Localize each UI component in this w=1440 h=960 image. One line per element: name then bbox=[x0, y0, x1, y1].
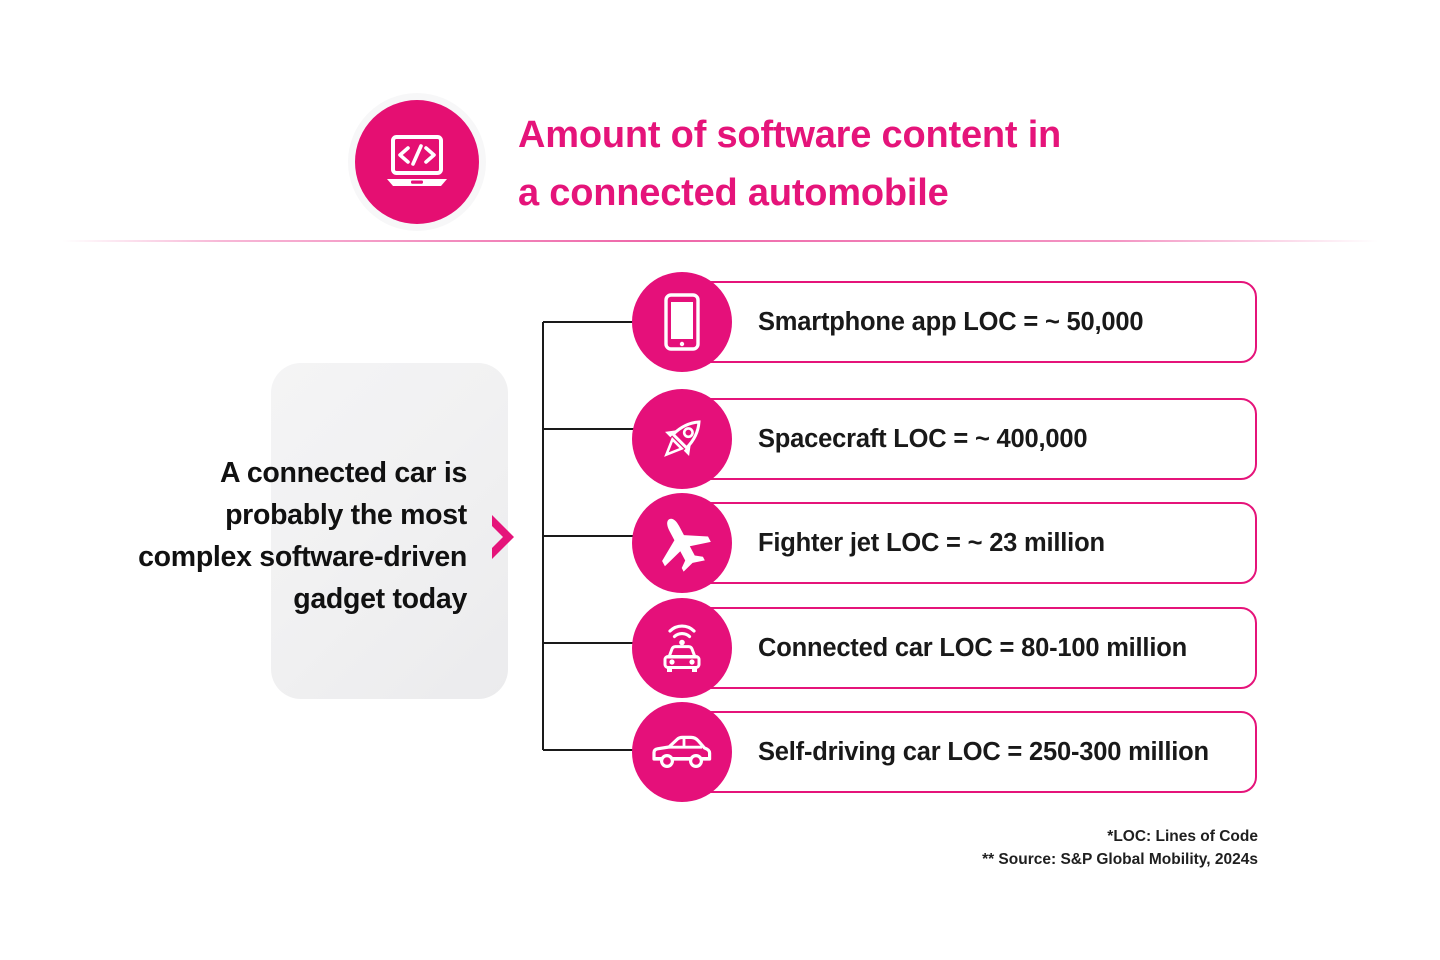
footnote-loc: *LOC: Lines of Code bbox=[982, 825, 1258, 848]
laptop-code-icon bbox=[355, 100, 479, 224]
rocket-icon bbox=[632, 389, 732, 489]
page-title: Amount of software content in a connecte… bbox=[518, 106, 1278, 222]
statement-line-3: complex software-driven bbox=[95, 536, 467, 578]
infographic-canvas: Amount of software content in a connecte… bbox=[0, 0, 1440, 960]
row-label: Smartphone app LOC = ~ 50,000 bbox=[758, 272, 1143, 372]
chevron-right-icon bbox=[487, 512, 521, 562]
statement-line-2: probably the most bbox=[95, 494, 467, 536]
row-label: Self-driving car LOC = 250-300 million bbox=[758, 702, 1209, 802]
statement-line-1: A connected car is bbox=[95, 452, 467, 494]
row-label: Fighter jet LOC = ~ 23 million bbox=[758, 493, 1105, 593]
header-divider bbox=[62, 240, 1378, 242]
statement-line-4: gadget today bbox=[95, 578, 467, 620]
statement-text: A connected car is probably the most com… bbox=[95, 452, 467, 620]
row-label: Connected car LOC = 80-100 million bbox=[758, 598, 1187, 698]
car-side-icon bbox=[632, 702, 732, 802]
page-title-line-1: Amount of software content in bbox=[518, 106, 1278, 164]
smartphone-icon bbox=[632, 272, 732, 372]
row-label: Spacecraft LOC = ~ 400,000 bbox=[758, 389, 1087, 489]
connected-car-icon bbox=[632, 598, 732, 698]
footnote-source: ** Source: S&P Global Mobility, 2024s bbox=[982, 848, 1258, 871]
footnotes: *LOC: Lines of Code ** Source: S&P Globa… bbox=[982, 825, 1258, 871]
airplane-icon bbox=[632, 493, 732, 593]
page-title-line-2: a connected automobile bbox=[518, 164, 1278, 222]
